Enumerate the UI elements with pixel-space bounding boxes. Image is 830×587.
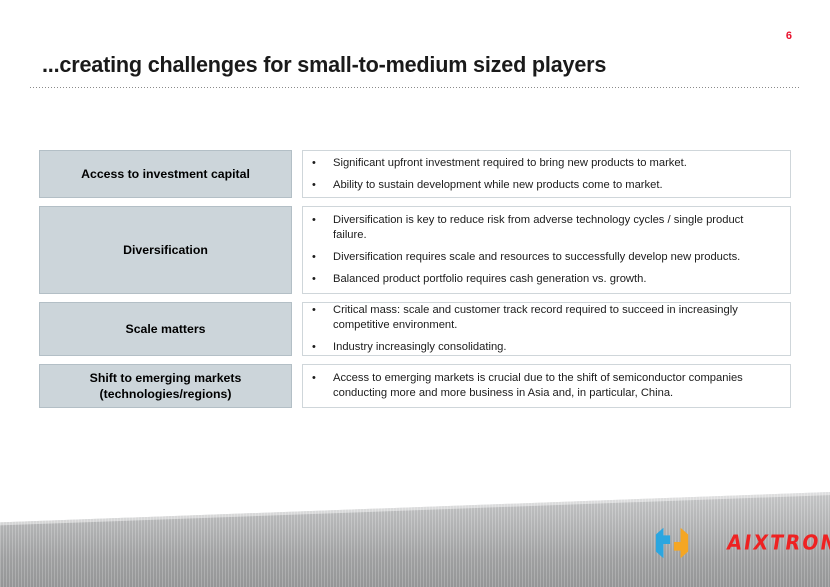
challenge-label: Diversification <box>123 242 208 258</box>
list-item: • Access to emerging markets is crucial … <box>311 371 780 401</box>
title-divider <box>30 87 800 88</box>
list-item: • Diversification is key to reduce risk … <box>311 213 780 243</box>
row-gap <box>292 150 302 198</box>
slide-canvas: 6 ...creating challenges for small-to-me… <box>0 0 830 587</box>
list-item-text: Diversification requires scale and resou… <box>333 250 780 265</box>
challenge-label-cell: Diversification <box>39 206 292 294</box>
bullet-icon: • <box>311 213 333 228</box>
challenge-details-cell: • Critical mass: scale and customer trac… <box>302 302 791 356</box>
challenge-label-cell: Shift to emerging markets (technologies/… <box>39 364 292 408</box>
page-title: ...creating challenges for small-to-medi… <box>42 52 606 78</box>
bullet-icon: • <box>311 340 333 355</box>
bullet-icon: • <box>311 371 333 386</box>
list-item: • Significant upfront investment require… <box>311 156 780 171</box>
list-item-text: Critical mass: scale and customer track … <box>333 303 780 333</box>
bullet-icon: • <box>311 178 333 193</box>
page-number: 6 <box>786 31 792 42</box>
bullet-icon: • <box>311 250 333 265</box>
aixtron-wordmark: AIXTRON <box>725 533 830 554</box>
aixtron-logo: AIXTRON <box>653 524 830 562</box>
table-row: Diversification • Diversification is key… <box>39 206 791 294</box>
bullet-icon: • <box>311 303 333 318</box>
list-item: • Balanced product portfolio requires ca… <box>311 272 780 287</box>
challenge-label-line1: Shift to emerging markets <box>90 371 242 385</box>
challenge-details-cell: • Significant upfront investment require… <box>302 150 791 198</box>
challenge-details-cell: • Diversification is key to reduce risk … <box>302 206 791 294</box>
row-gap <box>292 302 302 356</box>
challenge-label: Scale matters <box>126 321 206 337</box>
challenge-label: Shift to emerging markets (technologies/… <box>90 370 242 402</box>
list-item-text: Balanced product portfolio requires cash… <box>333 272 780 287</box>
challenge-label-line2: (technologies/regions) <box>100 387 232 401</box>
list-item: • Industry increasingly consolidating. <box>311 340 780 355</box>
row-gap <box>292 364 302 408</box>
list-item: • Ability to sustain development while n… <box>311 178 780 193</box>
challenges-matrix: Access to investment capital • Significa… <box>39 150 791 408</box>
table-row: Shift to emerging markets (technologies/… <box>39 364 791 408</box>
list-item-text: Access to emerging markets is crucial du… <box>333 371 780 401</box>
list-item-text: Significant upfront investment required … <box>333 156 780 171</box>
aixtron-mark-icon <box>653 524 691 562</box>
list-item-text: Ability to sustain development while new… <box>333 178 780 193</box>
list-item: • Critical mass: scale and customer trac… <box>311 303 780 333</box>
list-item-text: Industry increasingly consolidating. <box>333 340 780 355</box>
row-gap <box>292 206 302 294</box>
list-item-text: Diversification is key to reduce risk fr… <box>333 213 780 243</box>
challenge-label: Access to investment capital <box>81 166 250 182</box>
challenge-label-cell: Scale matters <box>39 302 292 356</box>
list-item: • Diversification requires scale and res… <box>311 250 780 265</box>
bullet-icon: • <box>311 156 333 171</box>
table-row: Scale matters • Critical mass: scale and… <box>39 302 791 356</box>
table-row: Access to investment capital • Significa… <box>39 150 791 198</box>
challenge-label-cell: Access to investment capital <box>39 150 292 198</box>
challenge-details-cell: • Access to emerging markets is crucial … <box>302 364 791 408</box>
bullet-icon: • <box>311 272 333 287</box>
